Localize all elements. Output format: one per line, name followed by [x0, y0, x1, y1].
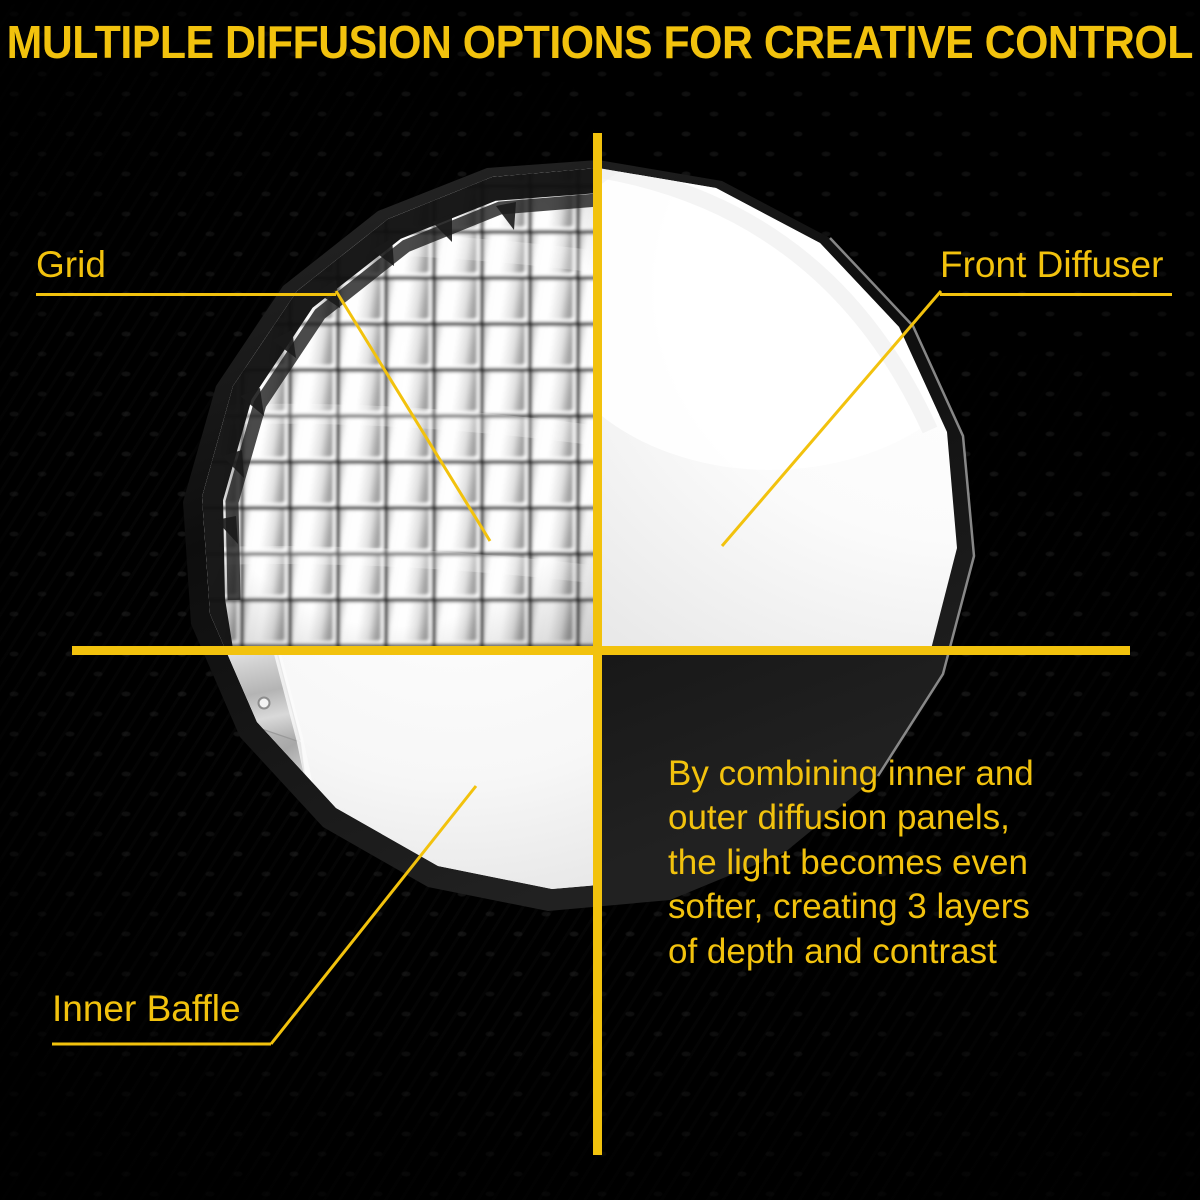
vertical-divider [593, 133, 602, 1155]
infographic-canvas: MULTIPLE DIFFUSION OPTIONS FOR CREATIVE … [0, 0, 1200, 1200]
quadrant-front-diffuser [540, 120, 1200, 680]
header-bar: MULTIPLE DIFFUSION OPTIONS FOR CREATIVE … [0, 0, 1200, 84]
page-title: MULTIPLE DIFFUSION OPTIONS FOR CREATIVE … [7, 15, 1193, 69]
horizontal-divider [72, 646, 1130, 655]
body-copy-line-5: of depth and contrast [668, 930, 1098, 974]
callout-front-diffuser-underline [940, 293, 1172, 296]
body-copy-line-1: By combining inner and [668, 752, 1098, 796]
body-copy-line-3: the light becomes even [668, 841, 1098, 885]
body-copy-line-4: softer, creating 3 layers [668, 885, 1098, 929]
callout-inner-baffle[interactable]: Inner Baffle [52, 990, 241, 1029]
body-copy: By combining inner and outer diffusion p… [668, 752, 1098, 974]
callout-front-diffuser-label: Front Diffuser [940, 246, 1172, 285]
callout-grid-underline [36, 293, 336, 296]
callout-inner-baffle-label: Inner Baffle [52, 990, 241, 1029]
callout-grid-label: Grid [36, 246, 336, 285]
body-copy-line-2: outer diffusion panels, [668, 796, 1098, 840]
callout-grid[interactable]: Grid [36, 246, 336, 296]
callout-front-diffuser[interactable]: Front Diffuser [940, 246, 1172, 296]
